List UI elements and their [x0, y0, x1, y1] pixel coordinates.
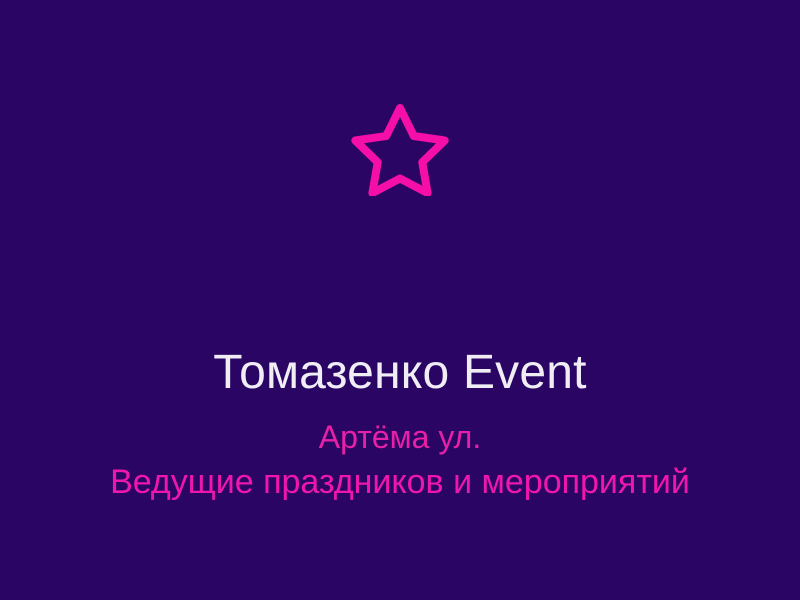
business-card: Томазенко Event Артёма ул. Ведущие празд… — [0, 0, 800, 600]
category-line: Ведущие праздников и мероприятий — [0, 460, 800, 504]
star-outline-icon — [350, 101, 450, 196]
logo-area — [0, 98, 800, 198]
page-title: Томазенко Event — [0, 344, 800, 402]
address-line: Артёма ул. — [0, 416, 800, 458]
text-block: Томазенко Event Артёма ул. Ведущие празд… — [0, 344, 800, 504]
subtitle-group: Артёма ул. Ведущие праздников и мероприя… — [0, 416, 800, 504]
